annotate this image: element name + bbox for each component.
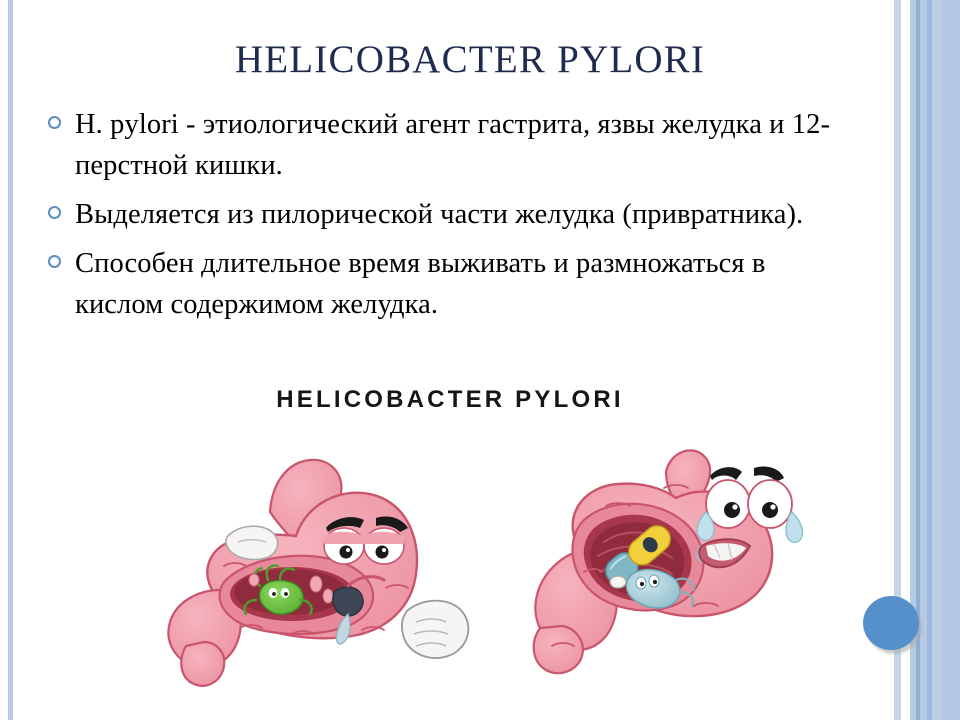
bullet-text: Выделяется из пилорической части желудка… [75,194,848,235]
bullet-text: H. pylori - этиологический агент гастрит… [75,104,848,186]
slide-canvas: HELICOBACTER PYLORI H. pylori - этиологи… [0,0,960,720]
angry-stomach-figure [168,460,468,686]
figure-caption: HELICOBACTER PYLORI [0,386,900,414]
hollow-circle-bullet-icon [48,116,61,129]
band-stripe-8 [942,0,960,720]
band-stripe-5 [920,0,927,720]
accent-ellipse [863,596,919,650]
bullet-text: Способен длительное время выживать и раз… [75,243,848,325]
hollow-circle-bullet-icon [48,255,61,268]
list-item: H. pylori - этиологический агент гастрит… [48,104,848,186]
list-item: Способен длительное время выживать и раз… [48,243,848,325]
stomach-illustration [120,440,860,702]
band-stripe-7 [932,0,942,720]
crying-stomach-figure [534,450,803,673]
hollow-circle-bullet-icon [48,206,61,219]
clenched-fist [402,601,468,658]
list-item: Выделяется из пилорической части желудка… [48,194,848,235]
upper-fist [226,526,278,559]
left-accent-rule [8,0,13,720]
page-title: HELICOBACTER PYLORI [60,36,880,84]
bullet-list: H. pylori - этиологический агент гастрит… [48,104,848,333]
